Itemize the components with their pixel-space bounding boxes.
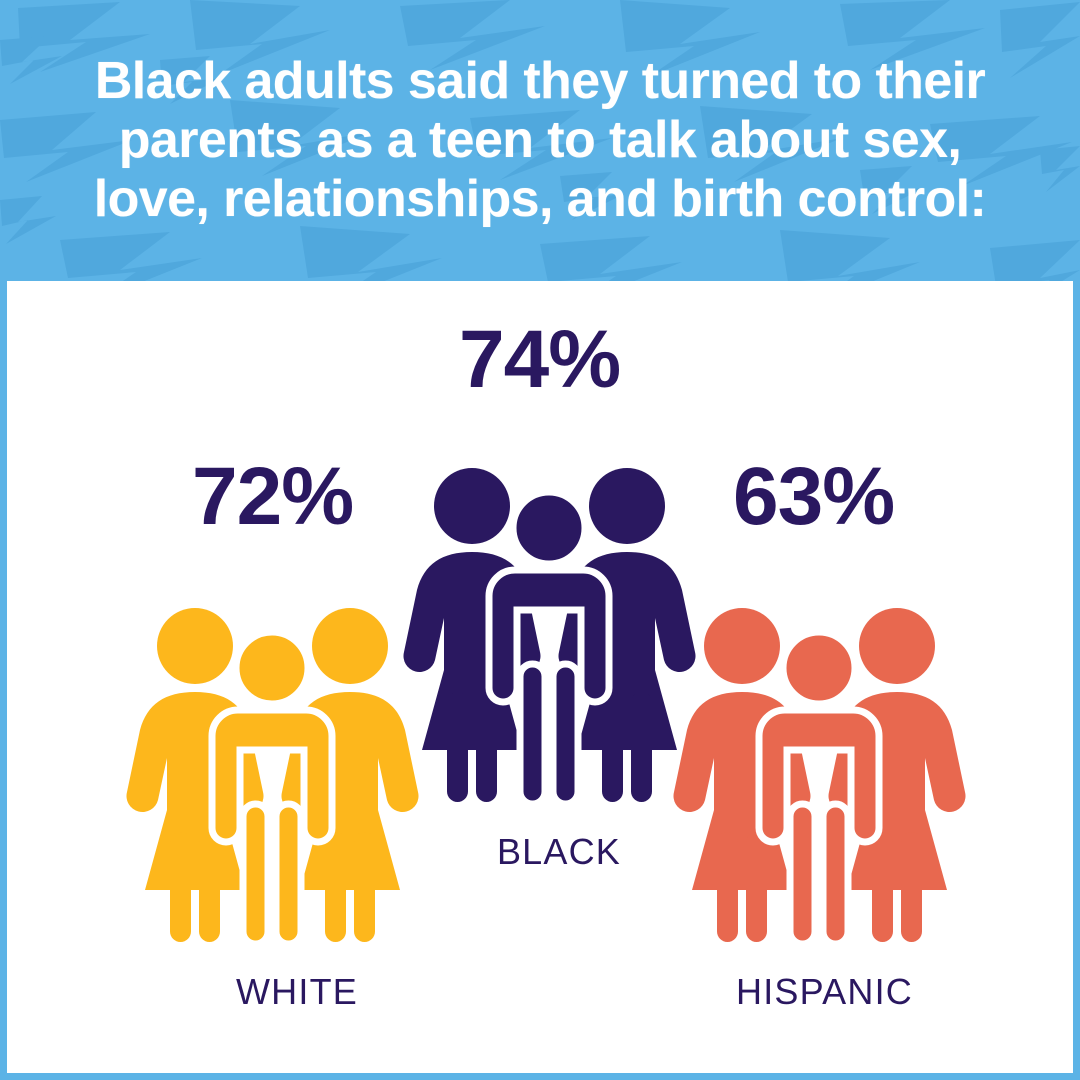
category-label-black: BLACK xyxy=(459,834,659,870)
content-card: 72% xyxy=(7,281,1073,1073)
page-title: Black adults said they turned to their p… xyxy=(90,52,990,230)
category-label-white: WHITE xyxy=(187,974,407,1010)
header-band: Black adults said they turned to their p… xyxy=(0,0,1080,281)
percent-value-white: 72% xyxy=(192,456,353,538)
percent-value-hispanic: 63% xyxy=(733,456,894,538)
pictogram-group-hispanic xyxy=(672,606,967,946)
infographic-canvas: Black adults said they turned to their p… xyxy=(0,0,1080,1080)
category-label-hispanic: HISPANIC xyxy=(702,974,947,1010)
pictogram-group-white xyxy=(125,606,420,946)
percent-value-black: 74% xyxy=(459,319,620,401)
pictogram-group-black xyxy=(402,466,697,806)
